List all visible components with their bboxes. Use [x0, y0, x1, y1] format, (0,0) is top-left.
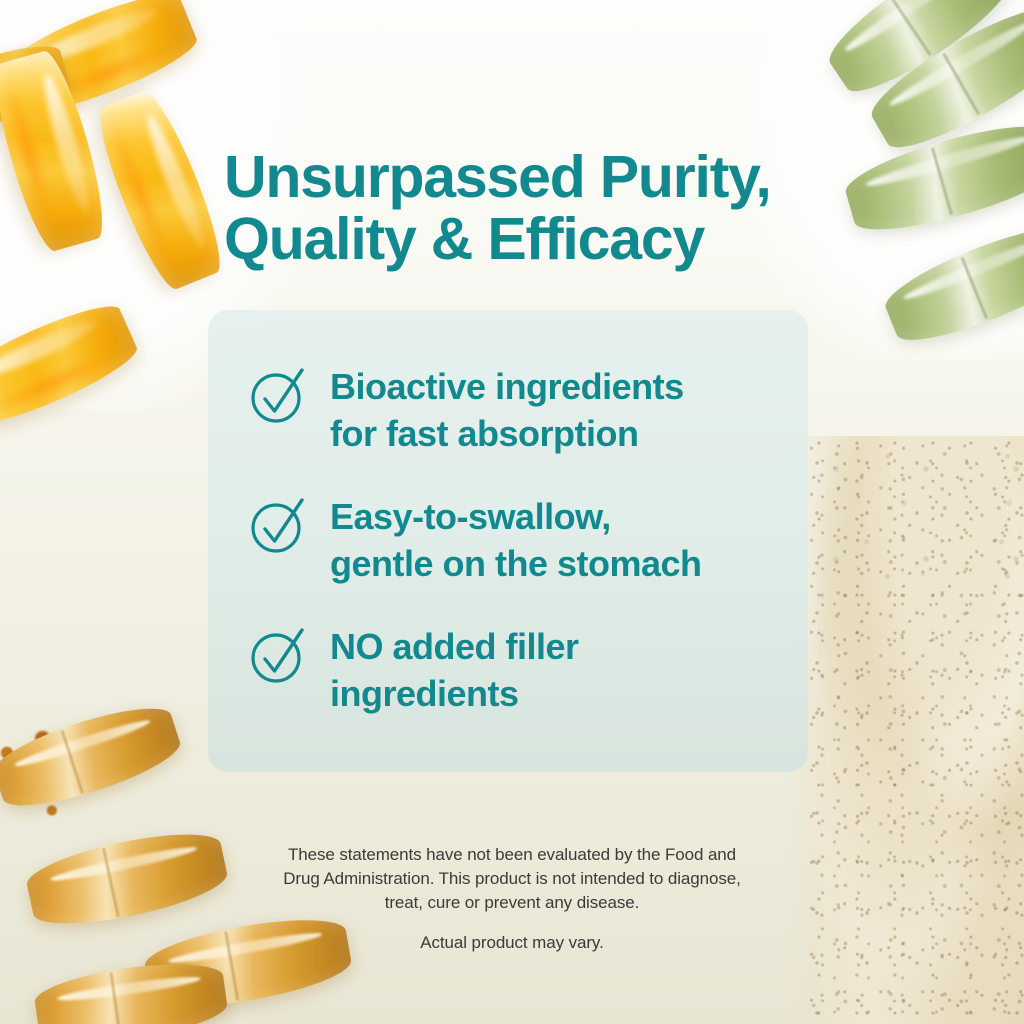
product-benefits-graphic: Unsurpassed Purity, Quality & Efficacy B…: [0, 0, 1024, 1024]
yellow-softgel-capsule: [0, 47, 114, 256]
benefit-text: Easy-to-swallow, gentle on the stomach: [330, 492, 702, 588]
yellow-softgel-capsule: [0, 295, 143, 436]
headline-line-2: Quality & Efficacy: [224, 208, 824, 271]
spilled-turmeric-powder: [0, 712, 102, 832]
fda-disclaimer: These statements have not been evaluated…: [212, 843, 812, 915]
protein-powder-pile: [786, 436, 1024, 1024]
circle-check-icon: [248, 364, 310, 426]
disclaimer-line-2: Drug Administration. This product is not…: [212, 867, 812, 891]
yellow-softgel-capsule: [0, 37, 75, 136]
turmeric-capsule: [22, 822, 231, 936]
turmeric-capsule: [32, 955, 230, 1024]
benefit-line-1: Bioactive ingredients: [330, 364, 684, 411]
benefit-line-1: Easy-to-swallow,: [330, 494, 702, 541]
benefit-line-2: gentle on the stomach: [330, 541, 702, 588]
benefit-item: NO added filler ingredients: [248, 622, 579, 718]
benefit-text: NO added filler ingredients: [330, 622, 579, 718]
turmeric-capsule: [0, 695, 186, 819]
disclaimer-line-3: treat, cure or prevent any disease.: [212, 891, 812, 915]
green-powder-capsule: [878, 213, 1024, 355]
yellow-softgel-capsule: [88, 85, 232, 295]
product-variance-note: Actual product may vary.: [212, 933, 812, 953]
benefit-line-1: NO added filler: [330, 624, 579, 671]
benefits-panel: Bioactive ingredients for fast absorptio…: [208, 310, 808, 772]
circle-check-icon: [248, 494, 310, 556]
benefit-line-2: ingredients: [330, 671, 579, 718]
circle-check-icon: [248, 624, 310, 686]
benefit-item: Bioactive ingredients for fast absorptio…: [248, 362, 684, 458]
turmeric-capsule: [141, 909, 355, 1017]
green-powder-capsule: [861, 0, 1024, 163]
green-powder-capsule: [818, 0, 1022, 106]
yellow-softgel-capsule: [2, 0, 203, 124]
benefit-text: Bioactive ingredients for fast absorptio…: [330, 362, 684, 458]
benefit-line-2: for fast absorption: [330, 411, 684, 458]
page-title: Unsurpassed Purity, Quality & Efficacy: [224, 146, 824, 271]
protein-powder-dust-specks: [818, 442, 1024, 602]
disclaimer-line-1: These statements have not been evaluated…: [212, 843, 812, 867]
headline-line-1: Unsurpassed Purity,: [224, 146, 824, 209]
green-powder-capsule: [840, 112, 1024, 244]
protein-powder-grain-texture: [806, 440, 1024, 1024]
benefit-item: Easy-to-swallow, gentle on the stomach: [248, 492, 702, 588]
